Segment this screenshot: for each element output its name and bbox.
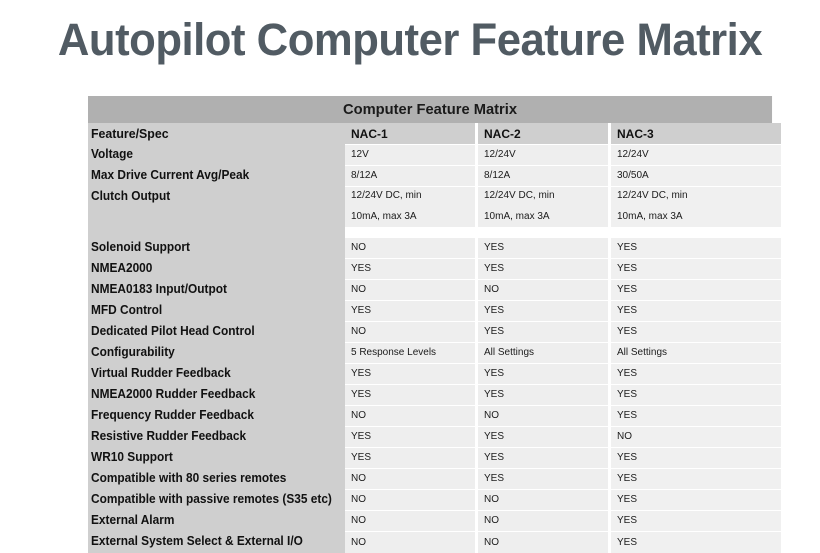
row-label-empty [88, 227, 345, 237]
table-row-spacer [88, 227, 786, 237]
row-value-nac-1: 12V [345, 144, 478, 165]
table-header-row: Feature/Spec NAC-1 NAC-2 NAC-3 [88, 123, 786, 144]
column-header-feature: Feature/Spec [88, 123, 345, 144]
row-value-nac-3: NO [611, 426, 781, 447]
table-row: Compatible with passive remotes (S35 etc… [88, 489, 786, 510]
row-value-nac-1: 8/12A [345, 165, 478, 186]
row-value-nac-1: NO [345, 468, 478, 489]
row-value-nac-3: YES [611, 279, 781, 300]
row-value-nac-1: NO [345, 510, 478, 531]
row-value-nac-2: YES [478, 300, 611, 321]
row-label: Voltage [88, 144, 345, 165]
row-value-nac-3: 12/24V [611, 144, 781, 165]
column-header-nac-2: NAC-2 [478, 123, 611, 144]
table-row: Max Drive Current Avg/Peak 8/12A 8/12A 3… [88, 165, 786, 186]
row-label: Virtual Rudder Feedback [88, 363, 345, 384]
row-value-nac-3: YES [611, 384, 781, 405]
column-header-nac-3: NAC-3 [611, 123, 781, 144]
row-value-nac-3: YES [611, 510, 781, 531]
row-value-nac-1: NO [345, 405, 478, 426]
table-row: MFD Control YES YES YES [88, 300, 786, 321]
row-value-nac-1: YES [345, 363, 478, 384]
row-value-nac-3: YES [611, 363, 781, 384]
row-label [88, 207, 345, 227]
row-value-nac-2: NO [478, 531, 611, 553]
spacer-cell [345, 227, 478, 237]
row-value-nac-1: 10mA, max 3A [345, 207, 478, 227]
row-label: Resistive Rudder Feedback [88, 426, 345, 447]
table-row: NMEA0183 Input/Outpot NO NO YES [88, 279, 786, 300]
row-value-nac-2: YES [478, 321, 611, 342]
row-value-nac-2: NO [478, 489, 611, 510]
row-value-nac-2: 8/12A [478, 165, 611, 186]
row-label: Compatible with 80 series remotes [88, 468, 345, 489]
row-value-nac-1: NO [345, 489, 478, 510]
table-row: External Alarm NO NO YES [88, 510, 786, 531]
row-label: External System Select & External I/O [88, 531, 345, 553]
row-value-nac-3: YES [611, 447, 781, 468]
row-value-nac-1: 12/24V DC, min [345, 186, 478, 207]
row-value-nac-3: YES [611, 489, 781, 510]
table-row: Dedicated Pilot Head Control NO YES YES [88, 321, 786, 342]
row-label: Compatible with passive remotes (S35 etc… [88, 489, 345, 510]
row-label: Max Drive Current Avg/Peak [88, 165, 345, 186]
row-value-nac-1: NO [345, 237, 478, 258]
row-label: Configurability [88, 342, 345, 363]
row-value-nac-2: YES [478, 384, 611, 405]
row-value-nac-2: 10mA, max 3A [478, 207, 611, 227]
row-value-nac-2: NO [478, 510, 611, 531]
row-value-nac-2: NO [478, 279, 611, 300]
table-row-continuation: 10mA, max 3A 10mA, max 3A 10mA, max 3A [88, 207, 786, 227]
row-value-nac-2: 12/24V DC, min [478, 186, 611, 207]
row-label: WR10 Support [88, 447, 345, 468]
row-value-nac-2: 12/24V [478, 144, 611, 165]
row-label: Frequency Rudder Feedback [88, 405, 345, 426]
spacer-cell [611, 227, 781, 237]
table-grid: Feature/Spec NAC-1 NAC-2 NAC-3 Voltage 1… [88, 123, 786, 553]
table-row: Compatible with 80 series remotes NO YES… [88, 468, 786, 489]
row-value-nac-1: 5 Response Levels [345, 342, 478, 363]
row-label: Solenoid Support [88, 237, 345, 258]
row-value-nac-3: YES [611, 300, 781, 321]
row-value-nac-1: NO [345, 321, 478, 342]
row-value-nac-3: YES [611, 258, 781, 279]
row-value-nac-2: YES [478, 258, 611, 279]
table-banner: Computer Feature Matrix [88, 96, 772, 123]
row-value-nac-2: All Settings [478, 342, 611, 363]
row-label: NMEA0183 Input/Outpot [88, 279, 345, 300]
spacer-cell [478, 227, 611, 237]
table-row: External System Select & External I/O NO… [88, 531, 786, 553]
table-row: Configurability 5 Response Levels All Se… [88, 342, 786, 363]
row-value-nac-2: YES [478, 237, 611, 258]
row-value-nac-2: YES [478, 426, 611, 447]
row-value-nac-3: All Settings [611, 342, 781, 363]
page-title: Autopilot Computer Feature Matrix [12, 14, 807, 66]
row-value-nac-3: 12/24V DC, min [611, 186, 781, 207]
row-label: NMEA2000 Rudder Feedback [88, 384, 345, 405]
column-header-nac-1: NAC-1 [345, 123, 478, 144]
row-value-nac-1: YES [345, 447, 478, 468]
row-value-nac-2: YES [478, 468, 611, 489]
row-value-nac-3: YES [611, 321, 781, 342]
row-value-nac-3: 10mA, max 3A [611, 207, 781, 227]
table-row: Voltage 12V 12/24V 12/24V [88, 144, 786, 165]
row-label: External Alarm [88, 510, 345, 531]
row-value-nac-3: YES [611, 468, 781, 489]
row-value-nac-1: YES [345, 426, 478, 447]
row-value-nac-1: YES [345, 258, 478, 279]
row-value-nac-1: NO [345, 531, 478, 553]
table-row: NMEA2000 Rudder Feedback YES YES YES [88, 384, 786, 405]
row-label: MFD Control [88, 300, 345, 321]
row-value-nac-1: YES [345, 300, 478, 321]
table-row: NMEA2000 YES YES YES [88, 258, 786, 279]
row-label: NMEA2000 [88, 258, 345, 279]
table-row: Virtual Rudder Feedback YES YES YES [88, 363, 786, 384]
row-value-nac-1: YES [345, 384, 478, 405]
row-value-nac-2: NO [478, 405, 611, 426]
table-row: Clutch Output 12/24V DC, min 12/24V DC, … [88, 186, 786, 207]
row-value-nac-1: NO [345, 279, 478, 300]
row-value-nac-3: YES [611, 405, 781, 426]
table-row: Solenoid Support NO YES YES [88, 237, 786, 258]
table-row: Frequency Rudder Feedback NO NO YES [88, 405, 786, 426]
row-value-nac-3: YES [611, 531, 781, 553]
row-value-nac-3: 30/50A [611, 165, 781, 186]
row-value-nac-3: YES [611, 237, 781, 258]
table-row: WR10 Support YES YES YES [88, 447, 786, 468]
row-label: Clutch Output [88, 186, 345, 207]
table-row: Resistive Rudder Feedback YES YES NO [88, 426, 786, 447]
row-value-nac-2: YES [478, 363, 611, 384]
row-label: Dedicated Pilot Head Control [88, 321, 345, 342]
row-value-nac-2: YES [478, 447, 611, 468]
feature-matrix-table: Computer Feature Matrix Feature/Spec NAC… [88, 96, 786, 553]
